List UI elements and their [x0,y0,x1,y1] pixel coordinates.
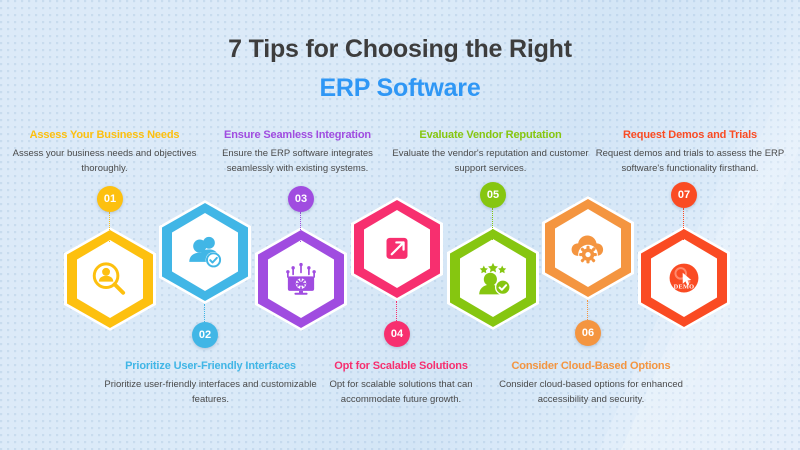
hexagon-03[interactable] [255,227,347,331]
tip-body-03: Ensure the ERP software integrates seaml… [199,147,396,176]
step-badge-04: 04 [384,321,410,347]
hexagon-05[interactable] [447,226,539,330]
tip-body-04: Opt for scalable solutions that can acco… [303,378,499,407]
tip-node-02[interactable]: 02 [159,200,251,348]
tip-body-02: Prioritize user-friendly interfaces and … [103,378,318,407]
tip-heading-06: Consider Cloud-Based Options [487,359,695,373]
step-badge-02: 02 [192,322,218,348]
tip-heading-07: Request Demos and Trials [585,128,795,142]
svg-text:DEMO: DEMO [674,284,695,291]
hexagon-04[interactable] [351,197,443,301]
person-stars-check-icon [472,257,514,299]
page-header: 7 Tips for Choosing the Right ERP Softwa… [0,34,800,105]
tip-heading-01: Assess Your Business Needs [6,128,203,142]
tip-text-07: Request Demos and Trials Request demos a… [585,128,795,177]
tip-text-03: Ensure Seamless Integration Ensure the E… [199,128,396,177]
hexagon-02[interactable] [159,200,251,304]
connector-line-05 [492,208,493,240]
step-badge-06: 06 [575,320,601,346]
step-badge-07: 07 [671,182,697,208]
tip-text-04: Opt for Scalable Solutions Opt for scala… [303,359,499,408]
tip-text-05: Evaluate Vendor Reputation Evaluate the … [392,128,589,177]
demo-cursor-icon: DEMO [663,257,705,299]
tip-heading-02: Prioritize User-Friendly Interfaces [103,359,318,373]
tip-text-06: Consider Cloud-Based Options Consider cl… [487,359,695,408]
tip-heading-04: Opt for Scalable Solutions [303,359,499,373]
connector-line-01 [109,212,110,242]
tip-node-06[interactable]: 06 [542,196,634,348]
tip-body-06: Consider cloud-based options for enhance… [487,378,695,407]
hexagon-07[interactable]: DEMO [638,226,730,330]
scale-arrow-icon [376,228,418,270]
tip-text-01: Assess Your Business Needs Assess your b… [6,128,203,177]
connector-line-03 [300,212,301,242]
cloud-gear-icon [567,227,609,269]
step-badge-05: 05 [480,182,506,208]
hexagon-06[interactable] [542,196,634,300]
tip-body-05: Evaluate the vendor's reputation and cus… [392,147,589,176]
page-title-accent: ERP Software [0,73,800,104]
step-badge-03: 03 [288,186,314,212]
tip-text-02: Prioritize User-Friendly Interfaces Prio… [103,359,318,408]
tip-node-07[interactable]: 07 DEMO [638,182,730,330]
tip-node-05[interactable]: 05 [447,182,539,330]
tip-body-07: Request demos and trials to assess the E… [585,147,795,176]
tip-node-03[interactable]: 03 [255,186,347,331]
tip-heading-03: Ensure Seamless Integration [199,128,396,142]
tip-node-01[interactable]: 01 [64,186,156,331]
page-title-primary: 7 Tips for Choosing the Right [0,34,800,65]
tip-heading-05: Evaluate Vendor Reputation [392,128,589,142]
tip-node-04[interactable]: 04 [351,197,443,347]
tip-body-01: Assess your business needs and objective… [6,147,203,176]
monitor-gear-network-icon [280,258,322,300]
infographic-canvas: 7 Tips for Choosing the Right ERP Softwa… [0,0,800,450]
step-badge-01: 01 [97,186,123,212]
hexagon-01[interactable] [64,227,156,331]
users-check-icon [184,231,226,273]
connector-line-07 [683,208,684,240]
person-magnifier-icon [89,258,131,300]
